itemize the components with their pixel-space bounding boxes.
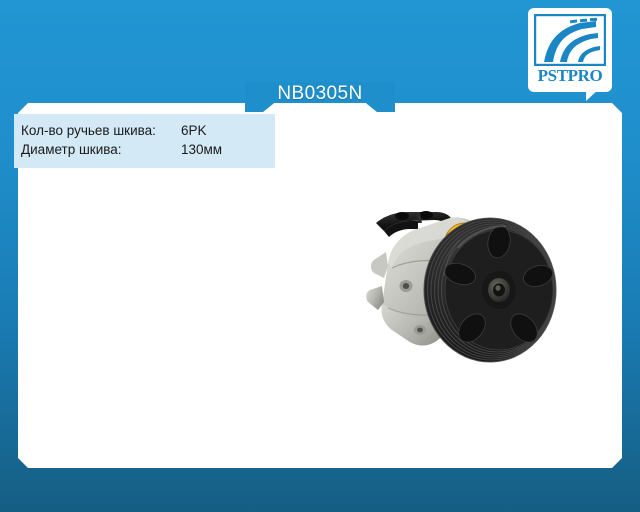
spec-row: Диаметр шкива: 130мм xyxy=(21,140,275,159)
brand-wordmark: PSTPRO xyxy=(528,66,612,86)
product-code-label: NB0305N xyxy=(228,83,412,105)
product-card-page: PSTPRO NB0305N Кол-во ручьев шкива: 6PK … xyxy=(0,0,640,512)
spec-value: 6PK xyxy=(181,121,207,140)
spec-row: Кол-во ручьев шкива: 6PK xyxy=(21,121,275,140)
pstpro-road-logo-icon xyxy=(534,14,606,66)
brand-logo: PSTPRO xyxy=(528,8,612,100)
power-steering-pump-photo xyxy=(362,190,572,370)
black-ribbed-pulley xyxy=(424,218,556,362)
spec-label: Кол-во ручьев шкива: xyxy=(21,121,181,140)
logo-speech-tail xyxy=(586,88,600,101)
spec-label: Диаметр шкива: xyxy=(21,140,181,159)
specifications-block: Кол-во ручьев шкива: 6PK Диаметр шкива: … xyxy=(14,114,275,168)
spec-value: 130мм xyxy=(181,140,222,159)
